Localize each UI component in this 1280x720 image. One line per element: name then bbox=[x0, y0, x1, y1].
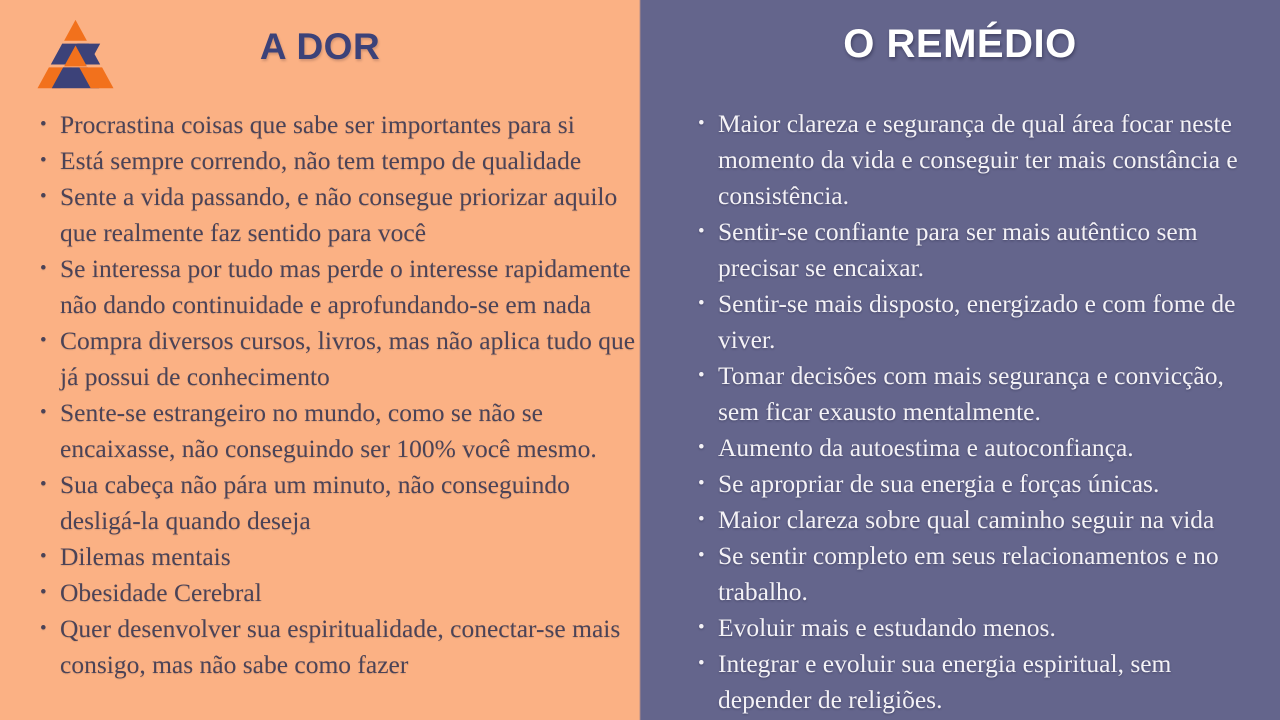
list-item: Integrar e evoluir sua energia espiritua… bbox=[698, 646, 1260, 718]
remedy-panel: O REMÉDIO Maior clareza e segurança de q… bbox=[640, 0, 1280, 720]
list-item: Maior clareza e segurança de qual área f… bbox=[698, 106, 1260, 214]
list-item: Se interessa por tudo mas perde o intere… bbox=[40, 251, 636, 323]
list-item: Está sempre correndo, não tem tempo de q… bbox=[40, 143, 636, 179]
list-item: Sente a vida passando, e não consegue pr… bbox=[40, 179, 636, 251]
list-item: Se apropriar de sua energia e forças úni… bbox=[698, 466, 1260, 502]
pain-panel: A DOR Procrastina coisas que sabe ser im… bbox=[0, 0, 640, 720]
list-item: Compra diversos cursos, livros, mas não … bbox=[40, 323, 636, 395]
list-item: Quer desenvolver sua espiritualidade, co… bbox=[40, 611, 636, 683]
list-item: Sentir-se mais disposto, energizado e co… bbox=[698, 286, 1260, 358]
list-item: Se sentir completo em seus relacionament… bbox=[698, 538, 1260, 610]
list-item: Sente-se estrangeiro no mundo, como se n… bbox=[40, 395, 636, 467]
list-item: Procrastina coisas que sabe ser importan… bbox=[40, 107, 636, 143]
list-item: Tomar decisões com mais segurança e conv… bbox=[698, 358, 1260, 430]
list-item: Sentir-se confiante para ser mais autênt… bbox=[698, 214, 1260, 286]
comparison-slide: A DOR Procrastina coisas que sabe ser im… bbox=[0, 0, 1280, 720]
page-title-remedy: O REMÉDIO bbox=[640, 22, 1280, 67]
list-item: Aumento da autoestima e autoconfiança. bbox=[698, 430, 1260, 466]
list-item: Sua cabeça não pára um minuto, não conse… bbox=[40, 467, 636, 539]
remedy-list: Maior clareza e segurança de qual área f… bbox=[698, 106, 1260, 718]
pain-list: Procrastina coisas que sabe ser importan… bbox=[40, 107, 636, 683]
list-item: Dilemas mentais bbox=[40, 539, 636, 575]
list-item: Obesidade Cerebral bbox=[40, 575, 636, 611]
list-item: Evoluir mais e estudando menos. bbox=[698, 610, 1260, 646]
list-item: Maior clareza sobre qual caminho seguir … bbox=[698, 502, 1260, 538]
panel-divider bbox=[639, 0, 641, 720]
page-title-pain: A DOR bbox=[0, 26, 640, 68]
